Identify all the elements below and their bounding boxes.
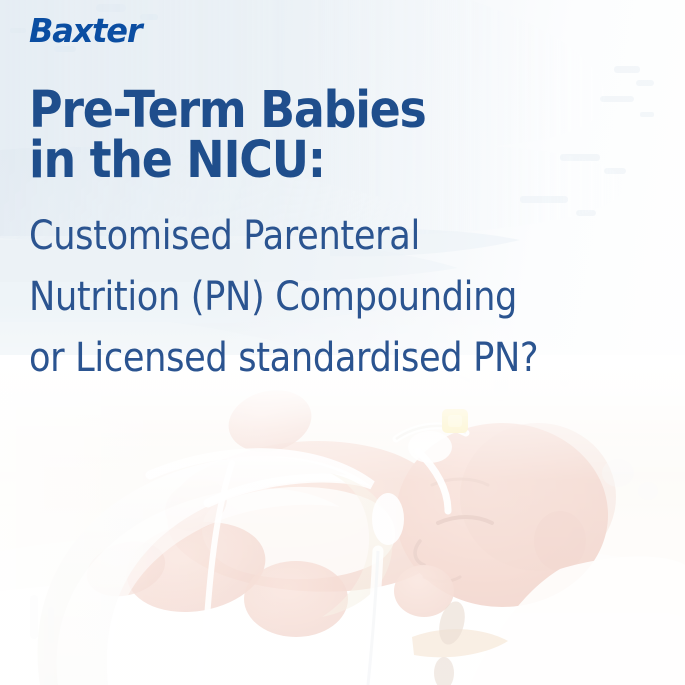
poster-canvas: Baxter Pre-Term Babies in the NICU: Cust… [0,0,685,685]
page-title: Pre-Term Babies in the NICU: [29,86,605,187]
subtitle-line-2: Nutrition (PN) Compounding [29,267,592,328]
hero-photo [0,355,685,685]
page-subtitle: Customised Parenteral Nutrition (PN) Com… [29,206,592,390]
baxter-logo: Baxter [29,14,141,47]
subtitle-line-3: or Licensed standardised PN? [29,328,592,389]
photo-left-fade [0,355,685,685]
subtitle-line-1: Customised Parenteral [29,206,592,267]
title-block: Pre-Term Babies in the NICU: Customised … [29,86,669,390]
